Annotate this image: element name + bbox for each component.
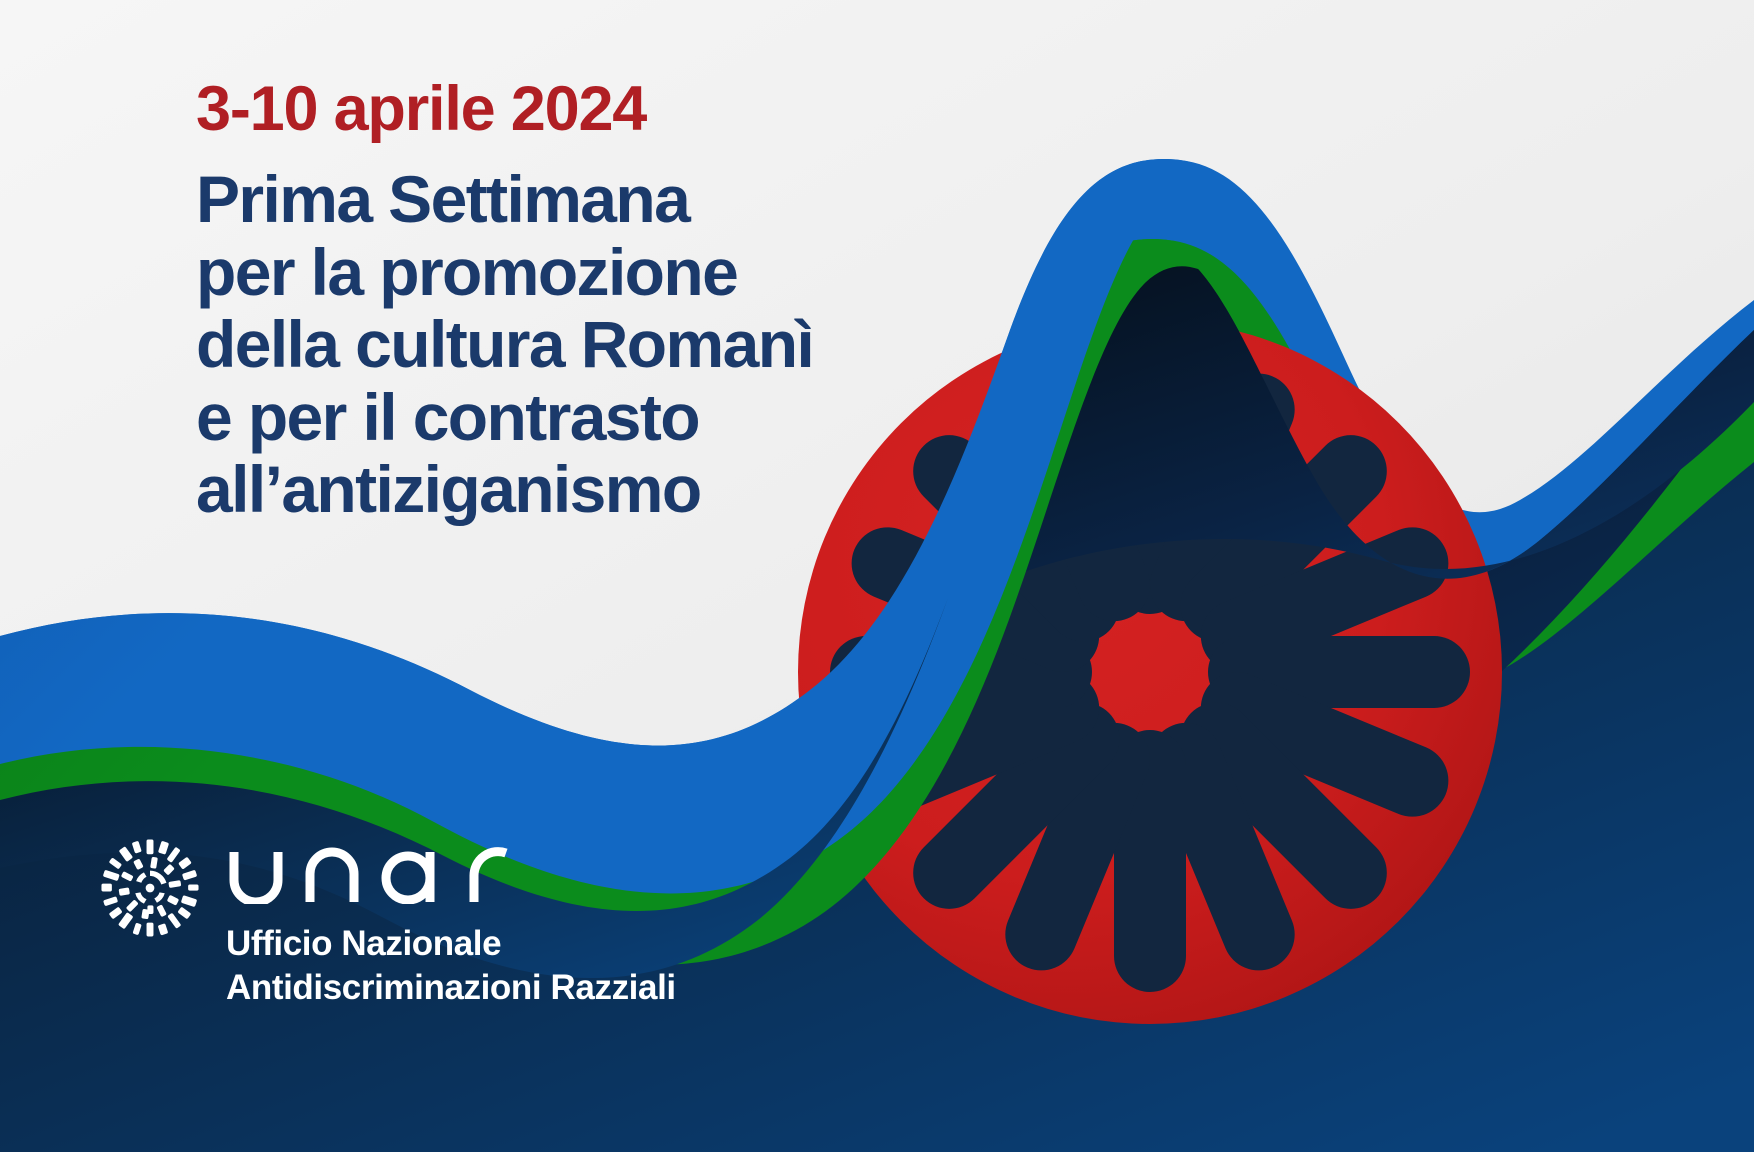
headline-line-3: della cultura Romanì [196,308,813,381]
unar-org-line-2: Antidiscriminazioni Razziali [226,966,676,1010]
headline-line-4: e per il contrasto [196,381,813,454]
headline-line-5: all’antiziganismo [196,453,813,526]
page-title: Prima Settimana per la promozione della … [196,163,813,526]
unar-wordmark-icon [226,832,556,904]
date-range: 3-10 aprile 2024 [196,78,813,141]
unar-org-name: Ufficio Nazionale Antidiscriminazioni Ra… [226,922,676,1010]
unar-globe-emblem-icon [98,836,202,940]
headline-line-1: Prima Settimana [196,163,813,236]
headline-line-2: per la promozione [196,236,813,309]
unar-org-line-1: Ufficio Nazionale [226,922,676,966]
headline-block: 3-10 aprile 2024 Prima Settimana per la … [196,78,813,526]
unar-wordmark-group: Ufficio Nazionale Antidiscriminazioni Ra… [226,828,676,1010]
poster-canvas: 3-10 aprile 2024 Prima Settimana per la … [0,0,1754,1152]
unar-logo-lockup: Ufficio Nazionale Antidiscriminazioni Ra… [98,828,676,1010]
